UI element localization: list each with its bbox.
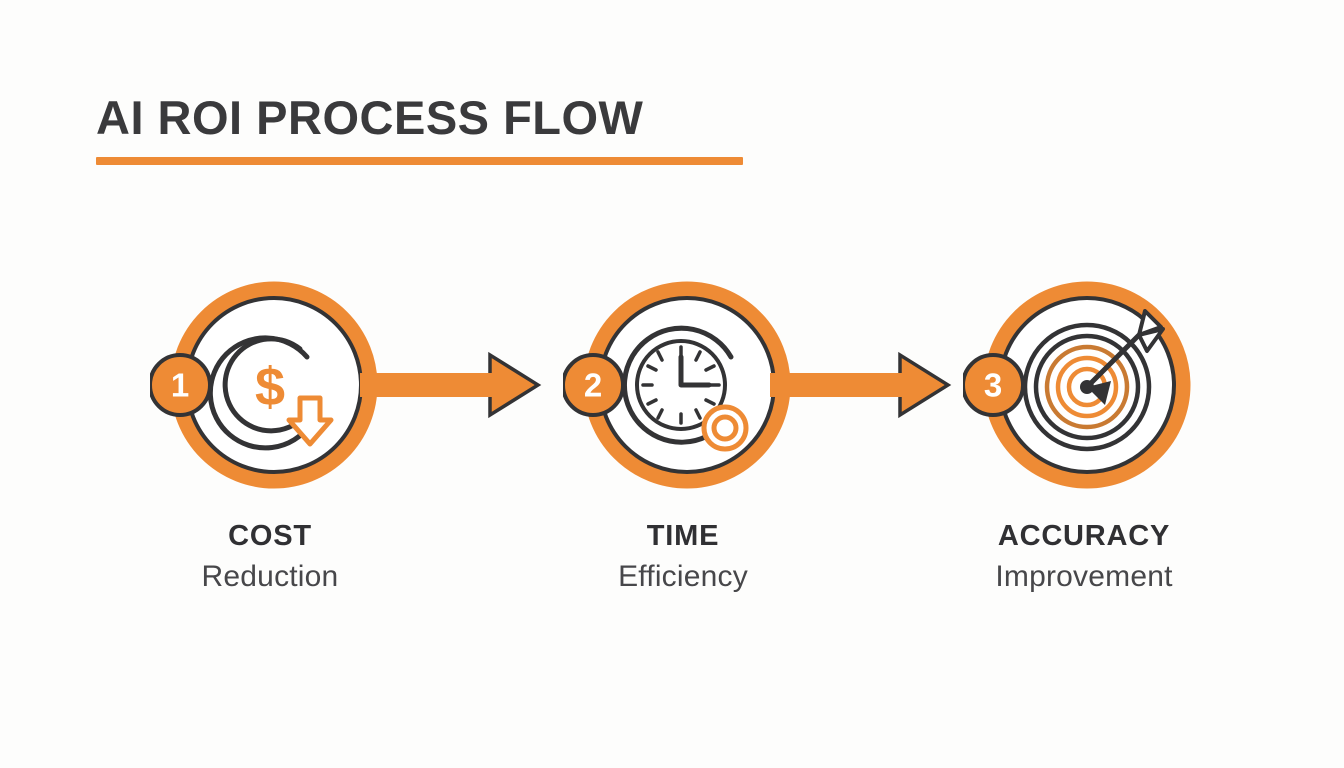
step-3-label-secondary: Improvement <box>919 557 1249 596</box>
step-labels-row: COST Reduction TIME Efficiency ACCURACY … <box>0 520 1344 630</box>
step-3-badge: 3 <box>963 355 1023 415</box>
step-1-badge: 1 <box>150 355 210 415</box>
dollar-sign-glyph: $ <box>255 357 285 417</box>
title-underline <box>96 157 743 165</box>
process-step-1[interactable]: 1 $ <box>150 265 390 505</box>
step-1-label-secondary: Reduction <box>105 557 435 596</box>
title-block: AI ROI PROCESS FLOW <box>96 92 796 165</box>
step-2-label-group: TIME Efficiency <box>518 520 848 596</box>
step-3-label-primary: ACCURACY <box>919 520 1249 553</box>
step-2-badge: 2 <box>563 355 623 415</box>
step-3-graphic: 3 <box>963 265 1203 505</box>
step-1-label-primary: COST <box>105 520 435 553</box>
process-step-3[interactable]: 3 <box>963 265 1203 505</box>
arrow-right-icon <box>770 345 985 425</box>
connector-2-to-3 <box>770 345 985 425</box>
step-3-label-group: ACCURACY Improvement <box>919 520 1249 596</box>
process-flow-row: 1 $ <box>0 265 1344 505</box>
target-ring-icon <box>704 407 746 449</box>
step-3-number: 3 <box>984 367 1002 404</box>
step-1-graphic: 1 $ <box>150 265 390 505</box>
step-2-label-secondary: Efficiency <box>518 557 848 596</box>
page-title: AI ROI PROCESS FLOW <box>96 92 796 145</box>
step-2-label-primary: TIME <box>518 520 848 553</box>
step-2-number: 2 <box>584 367 602 404</box>
step-1-label-group: COST Reduction <box>105 520 435 596</box>
arrow-right-icon <box>360 345 575 425</box>
step-1-number: 1 <box>171 367 189 404</box>
connector-1-to-2 <box>360 345 575 425</box>
step-2-graphic: 2 <box>563 265 803 505</box>
diagram-canvas: AI ROI PROCESS FLOW 1 <box>0 0 1344 768</box>
process-step-2[interactable]: 2 <box>563 265 803 505</box>
